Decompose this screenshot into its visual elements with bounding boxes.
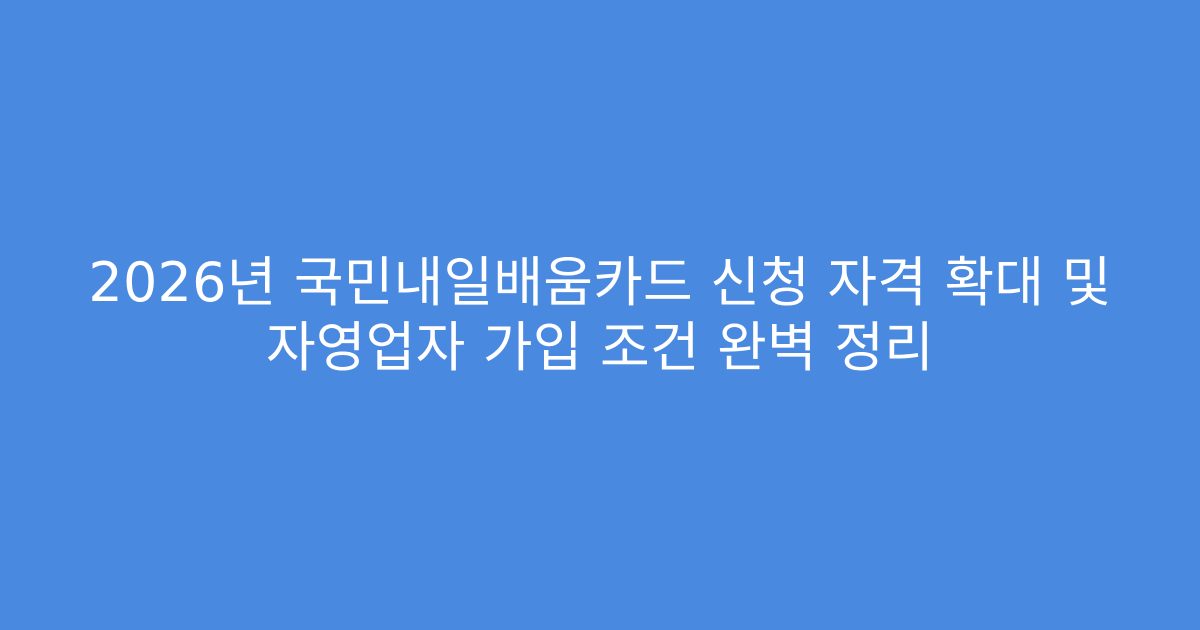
page-title: 2026년 국민내일배움카드 신청 자격 확대 및 자영업자 가입 조건 완벽 … (70, 250, 1130, 380)
title-line-2: 자영업자 가입 조건 완벽 정리 (70, 315, 1130, 380)
title-card: 2026년 국민내일배움카드 신청 자격 확대 및 자영업자 가입 조건 완벽 … (0, 0, 1200, 630)
title-line-1: 2026년 국민내일배움카드 신청 자격 확대 및 (70, 250, 1130, 315)
